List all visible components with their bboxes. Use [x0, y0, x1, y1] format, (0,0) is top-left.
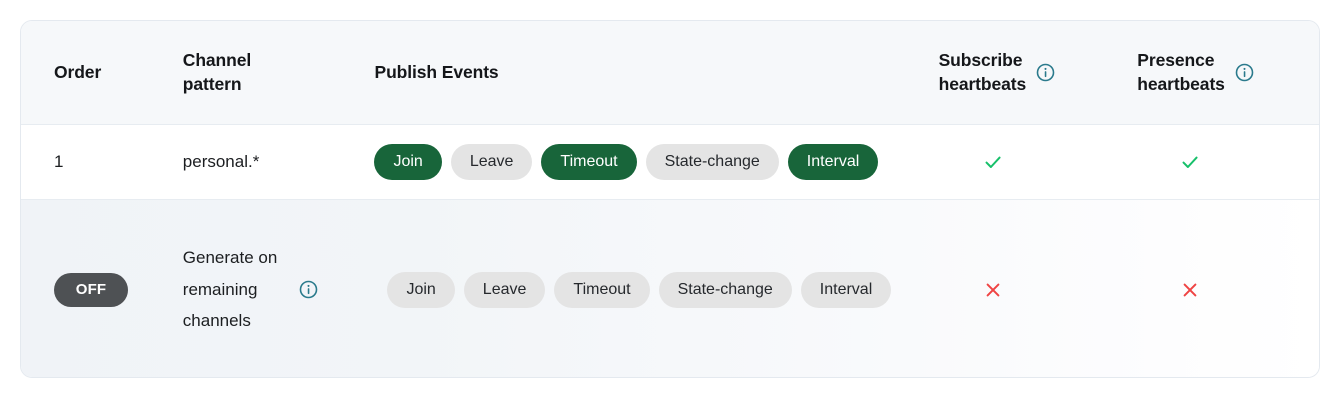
column-header-presence-heartbeats: Presence heartbeats	[1137, 21, 1319, 124]
table-header-row: Order Channel pattern Publish Events Sub…	[21, 21, 1319, 125]
publish-events-pill-group: Join Leave Timeout State-change Interval	[387, 272, 891, 308]
cell-presence-heartbeats	[1137, 125, 1319, 199]
subscribe-label-line2: heartbeats	[939, 74, 1027, 94]
channel-pattern-label-line1: Channel	[183, 50, 251, 70]
table-row: 1 personal.* Join Leave Timeout State-ch…	[21, 125, 1319, 200]
cell-order: OFF	[21, 200, 183, 378]
info-icon[interactable]	[299, 280, 318, 299]
column-header-channel-pattern-label: Channel pattern	[183, 49, 251, 95]
channel-pattern-value: Generate on remaining channels	[183, 242, 287, 338]
cell-order: 1	[21, 125, 183, 199]
cell-presence-heartbeats	[1137, 200, 1319, 378]
event-pill-interval[interactable]: Interval	[801, 272, 891, 308]
cross-icon	[1178, 278, 1202, 302]
channel-pattern-label-line2: pattern	[183, 74, 242, 94]
check-icon	[1178, 150, 1202, 174]
event-pill-leave[interactable]: Leave	[464, 272, 546, 308]
channel-pattern-value: personal.*	[183, 146, 260, 178]
event-pill-timeout[interactable]: Timeout	[541, 144, 636, 180]
cross-icon	[981, 278, 1005, 302]
cell-subscribe-heartbeats	[939, 125, 1138, 199]
off-toggle-badge[interactable]: OFF	[54, 273, 128, 307]
event-pill-state-change[interactable]: State-change	[646, 144, 779, 180]
column-header-order-label: Order	[54, 61, 101, 84]
column-header-channel-pattern: Channel pattern	[183, 21, 375, 124]
event-pill-join[interactable]: Join	[387, 272, 454, 308]
info-icon[interactable]	[1036, 63, 1055, 82]
column-header-presence-heartbeats-label: Presence heartbeats	[1137, 49, 1225, 95]
info-icon[interactable]	[1235, 63, 1254, 82]
check-icon	[981, 150, 1005, 174]
column-header-publish-events: Publish Events	[375, 21, 939, 124]
cell-publish-events: Join Leave Timeout State-change Interval	[374, 125, 938, 199]
cell-publish-events: Join Leave Timeout State-change Interval	[387, 200, 938, 378]
table-row: OFF Generate on remaining channels Join …	[21, 200, 1319, 378]
publish-events-pill-group: Join Leave Timeout State-change Interval	[374, 144, 878, 180]
cell-channel-pattern: Generate on remaining channels	[183, 200, 388, 378]
presence-label-line1: Presence	[1137, 50, 1214, 70]
cell-subscribe-heartbeats	[939, 200, 1138, 378]
event-pill-interval[interactable]: Interval	[788, 144, 878, 180]
column-header-publish-events-label: Publish Events	[375, 61, 499, 84]
event-pill-timeout[interactable]: Timeout	[554, 272, 649, 308]
subscribe-label-line1: Subscribe	[939, 50, 1023, 70]
channel-rules-table: Order Channel pattern Publish Events Sub…	[20, 20, 1320, 378]
event-pill-join[interactable]: Join	[374, 144, 441, 180]
event-pill-leave[interactable]: Leave	[451, 144, 533, 180]
cell-channel-pattern: personal.*	[183, 125, 375, 199]
order-value: 1	[54, 151, 63, 173]
column-header-order: Order	[21, 21, 183, 124]
presence-label-line2: heartbeats	[1137, 74, 1225, 94]
column-header-subscribe-heartbeats: Subscribe heartbeats	[939, 21, 1138, 124]
column-header-subscribe-heartbeats-label: Subscribe heartbeats	[939, 49, 1027, 95]
event-pill-state-change[interactable]: State-change	[659, 272, 792, 308]
